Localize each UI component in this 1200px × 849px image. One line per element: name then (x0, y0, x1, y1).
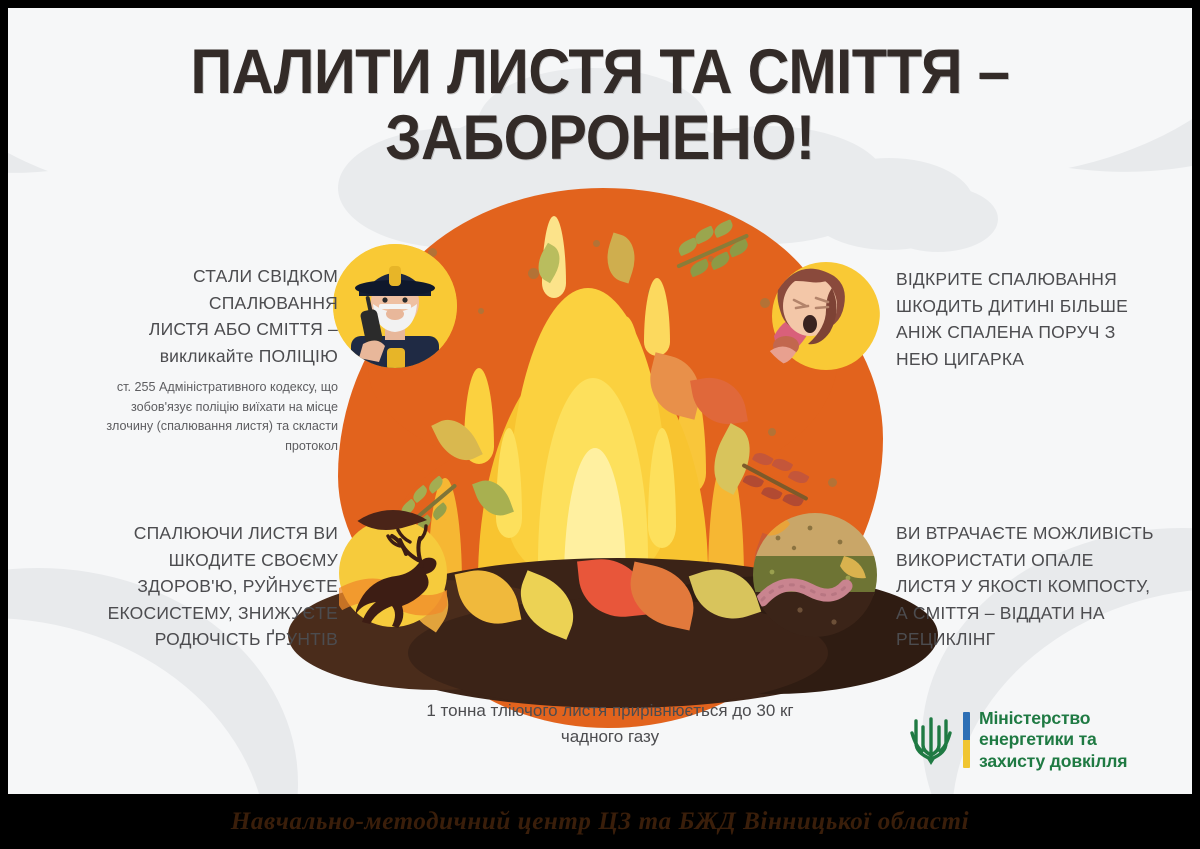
banner-text: Навчально-методичний центр ЦЗ та БЖД Він… (231, 808, 969, 836)
compost-worm-icon (748, 508, 882, 642)
text-line: ШКОДИТЬ ДИТИНІ БІЛЬШЕ (896, 293, 1192, 320)
text-block-harm-to-child: ВІДКРИТЕ СПАЛЮВАННЯ ШКОДИТЬ ДИТИНІ БІЛЬШ… (896, 266, 1192, 372)
legal-line: протокол (42, 437, 338, 456)
text-line: РОДЮЧІСТЬ ҐРУНТІВ (32, 626, 338, 653)
speckle-decor (768, 428, 776, 436)
ukraine-flag-bar-icon (963, 712, 970, 768)
poster-title: ПАЛИТИ ЛИСТЯ ТА СМІТТЯ – ЗАБОРОНЕНО! (55, 42, 1144, 169)
legal-line: злочину (спалювання листя) та скласти (42, 417, 338, 436)
text-block-witness-burning: СТАЛИ СВІДКОМ СПАЛЮВАННЯ ЛИСТЯ АБО СМІТТ… (42, 263, 338, 456)
text-line: ВИ ВТРАЧАЄТЕ МОЖЛИВІСТЬ (896, 520, 1192, 547)
title-line-1: ПАЛИТИ ЛИСТЯ ТА СМІТТЯ – (190, 37, 1009, 107)
speckle-decor (593, 240, 600, 247)
coughing-child-icon (756, 250, 880, 374)
text-line: ВІДКРИТЕ СПАЛЮВАННЯ (896, 266, 1192, 293)
text-line: СПАЛЮВАННЯ (42, 290, 338, 317)
text-line: ЗДОРОВ'Ю, РУЙНУЄТЕ (32, 573, 338, 600)
text-line: СТАЛИ СВІДКОМ (42, 263, 338, 290)
infographic-poster: ПАЛИТИ ЛИСТЯ ТА СМІТТЯ – ЗАБОРОНЕНО! (0, 0, 1200, 849)
text-line: ЕКОСИСТЕМУ, ЗНИЖУЄТЕ (32, 600, 338, 627)
text-line: А СМІТТЯ – ВІДДАТИ НА (896, 600, 1192, 627)
speckle-decor (478, 308, 484, 314)
legal-line: ст. 255 Адміністративного кодексу, що (42, 378, 338, 397)
text-block-compost-recycling: ВИ ВТРАЧАЄТЕ МОЖЛИВІСТЬ ВИКОРИСТАТИ ОПАЛ… (896, 520, 1192, 653)
caption-line: 1 тонна тліючого листя прирівнюється до … (300, 698, 920, 724)
text-line: СПАЛЮЮЧИ ЛИСТЯ ВИ (32, 520, 338, 547)
ukraine-trident-icon (908, 713, 954, 767)
fire-caption: 1 тонна тліючого листя прирівнюється до … (300, 698, 920, 751)
text-block-health-ecosystem: СПАЛЮЮЧИ ЛИСТЯ ВИ ШКОДИТЕ СВОЄМУ ЗДОРОВ'… (32, 520, 338, 653)
text-line: АНІЖ СПАЛЕНА ПОРУЧ З (896, 319, 1192, 346)
bottom-banner: Навчально-методичний центр ЦЗ та БЖД Він… (0, 794, 1200, 849)
police-officer-icon (333, 244, 457, 368)
ministry-line: Міністерство (979, 708, 1127, 729)
caption-line: чадного газу (300, 724, 920, 750)
text-line: ШКОДИТЕ СВОЄМУ (32, 547, 338, 574)
text-line: викликайте ПОЛІЦІЮ (42, 343, 338, 370)
ministry-line: захисту довкілля (979, 751, 1127, 772)
ministry-logo: Міністерство енергетики та захисту довкі… (908, 708, 1127, 772)
leaping-deer-icon (330, 510, 456, 636)
ministry-name: Міністерство енергетики та захисту довкі… (979, 708, 1127, 772)
legal-line: зобов'язує поліцію виїхати на місце (42, 398, 338, 417)
title-line-2: ЗАБОРОНЕНО! (55, 108, 1144, 168)
ministry-line: енергетики та (979, 729, 1127, 750)
legal-note: ст. 255 Адміністративного кодексу, що зо… (42, 378, 338, 456)
text-line: РЕЦИКЛІНГ (896, 626, 1192, 653)
text-line: ЛИСТЯ У ЯКОСТІ КОМПОСТУ, (896, 573, 1192, 600)
text-line: ЛИСТЯ АБО СМІТТЯ – (42, 316, 338, 343)
text-line: ВИКОРИСТАТИ ОПАЛЕ (896, 547, 1192, 574)
text-line: НЕЮ ЦИГАРКА (896, 346, 1192, 373)
poster-canvas: ПАЛИТИ ЛИСТЯ ТА СМІТТЯ – ЗАБОРОНЕНО! (8, 8, 1192, 794)
